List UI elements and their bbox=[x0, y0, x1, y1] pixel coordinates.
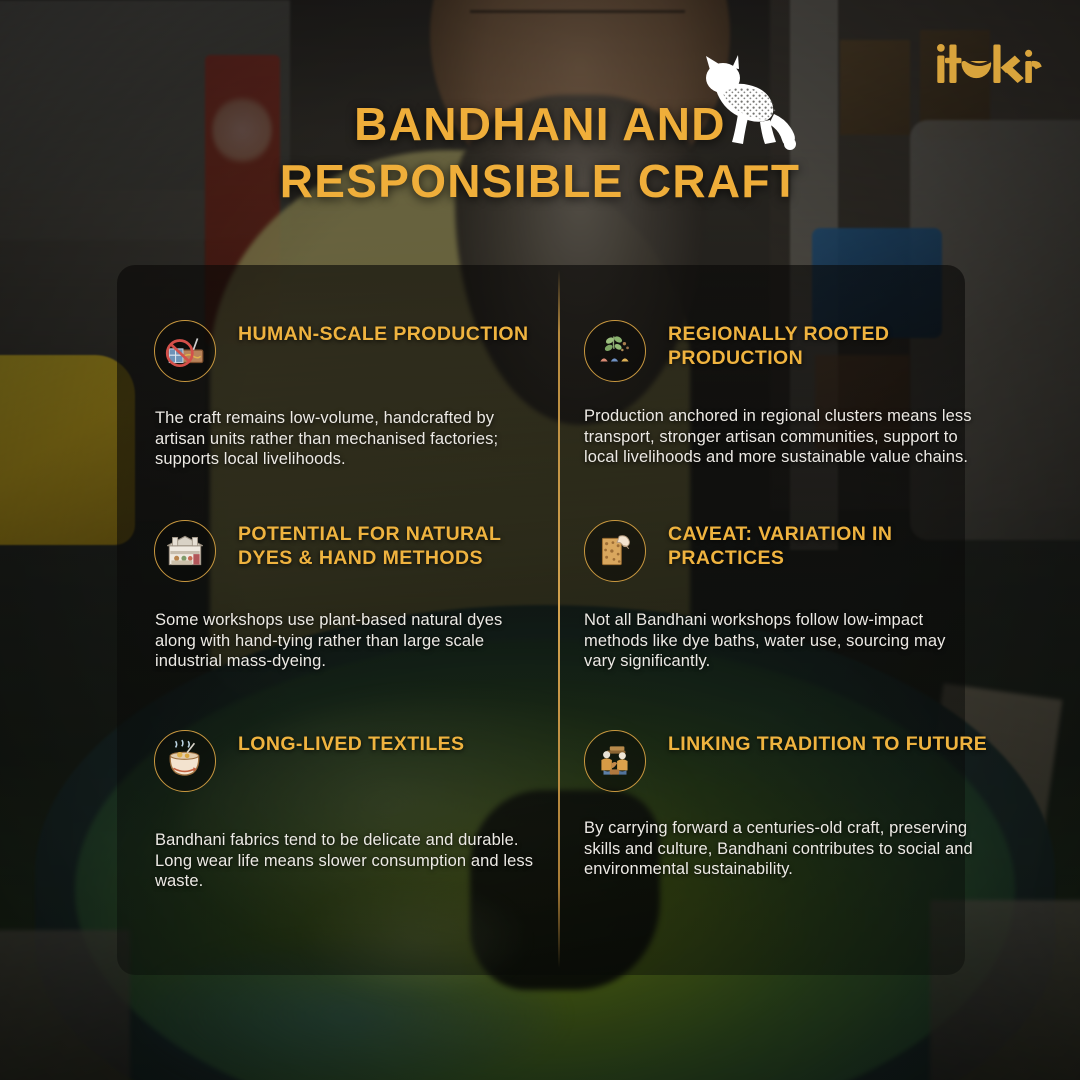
feature-card-long-lived-textiles: LONG-LIVED TEXTILES Bandhani fabrics ten… bbox=[154, 730, 554, 892]
infographic-poster: BANDHANI AND RESPONSIBLE CRAFT bbox=[0, 0, 1080, 1080]
card-title: CAVEAT: VARIATION IN PRACTICES bbox=[668, 522, 988, 570]
no-factory-icon bbox=[154, 320, 216, 382]
card-body: Some workshops use plant-based natural d… bbox=[155, 610, 545, 672]
steaming-dye-pot-icon bbox=[154, 730, 216, 792]
cat-illustration-icon bbox=[686, 52, 801, 157]
card-body: Bandhani fabrics tend to be delicate and… bbox=[155, 830, 545, 892]
feature-grid: HUMAN-SCALE PRODUCTION The craft remains… bbox=[0, 0, 1080, 1080]
card-title: LONG-LIVED TEXTILES bbox=[238, 732, 538, 756]
feature-card-human-scale-production: HUMAN-SCALE PRODUCTION The craft remains… bbox=[154, 320, 554, 470]
card-title: REGIONALLY ROOTED PRODUCTION bbox=[668, 322, 988, 370]
card-title: HUMAN-SCALE PRODUCTION bbox=[238, 322, 538, 346]
card-title: LINKING TRADITION TO FUTURE bbox=[668, 732, 988, 756]
card-body: Not all Bandhani workshops follow low-im… bbox=[584, 610, 974, 672]
feature-card-linking-tradition-to-future: LINKING TRADITION TO FUTURE By carrying … bbox=[584, 730, 984, 880]
card-title: POTENTIAL FOR NATURAL DYES & HAND METHOD… bbox=[238, 522, 538, 570]
feature-card-natural-dyes-hand-methods: POTENTIAL FOR NATURAL DYES & HAND METHOD… bbox=[154, 520, 554, 672]
hand-holding-fabric-icon bbox=[584, 520, 646, 582]
card-body: Production anchored in regional clusters… bbox=[584, 406, 984, 468]
feature-card-caveat-variation-in-practices: CAVEAT: VARIATION IN PRACTICES Not all B… bbox=[584, 520, 984, 672]
card-body: By carrying forward a centuries-old craf… bbox=[584, 818, 974, 880]
two-artisans-icon bbox=[584, 730, 646, 792]
card-body: The craft remains low-volume, handcrafte… bbox=[155, 408, 545, 470]
herbs-and-dye-piles-icon bbox=[584, 320, 646, 382]
workshop-building-icon bbox=[154, 520, 216, 582]
feature-card-regionally-rooted-production: REGIONALLY ROOTED PRODUCTION Production … bbox=[584, 320, 984, 468]
